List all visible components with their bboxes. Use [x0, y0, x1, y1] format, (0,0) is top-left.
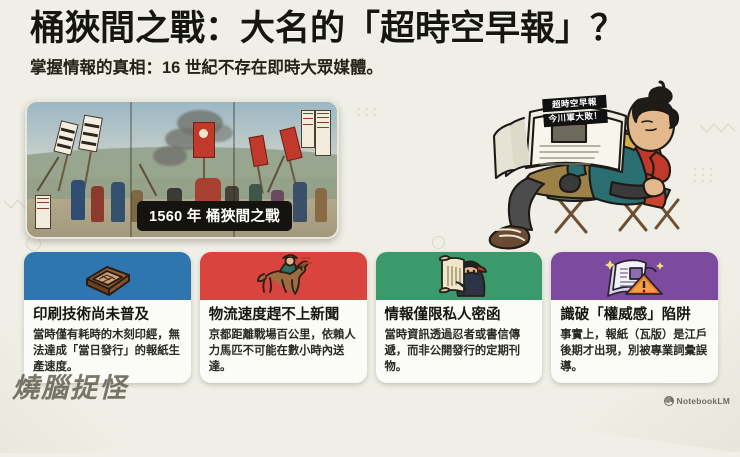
card-header-printing [24, 252, 191, 300]
reason-card-logistics[interactable]: 物流速度趕不上新聞 京都距離戰場百公里，依賴人力馬匹不可能在數小時內送達。 [200, 252, 367, 383]
notebooklm-attribution: NotebookLM [664, 396, 730, 406]
card-body-private-letters: 情報僅限私人密函 當時資訊透過忍者或書信傳遞，而非公開發行的定期刊物。 [376, 300, 543, 383]
decor-dot-grid-icon [358, 108, 378, 116]
hero-image-card: 1560 年 桶狹間之戰 [25, 100, 339, 239]
card-title: 情報僅限私人密函 [385, 307, 534, 324]
newspaper-warning-icon [602, 254, 668, 298]
reason-card-authority-trap[interactable]: 識破「權威感」陷阱 事實上，報紙（瓦版）是江戶後期才出現，別被專業詞彙誤導。 [551, 252, 718, 383]
reason-card-list: 印刷技術尚未普及 當時僅有耗時的木刻印經，無法達成「當日發行」的報紙生產速度。 [24, 252, 718, 383]
page-title: 桶狹間之戰：大名的「超時空早報」？ [30, 10, 720, 48]
decor-circle-icon [432, 236, 445, 249]
notebooklm-logo-icon [664, 396, 674, 406]
woodblock-print-icon [77, 255, 137, 297]
card-header-logistics [200, 252, 367, 300]
card-header-authority-trap [551, 252, 718, 300]
hero-image-caption: 1560 年 桶狹間之戰 [137, 201, 292, 231]
notebooklm-label: NotebookLM [677, 396, 730, 406]
card-text: 京都距離戰場百公里，依賴人力馬匹不可能在數小時內送達。 [209, 327, 358, 375]
card-text: 事實上，報紙（瓦版）是江戶後期才出現，別被專業詞彙誤導。 [560, 327, 709, 375]
infographic-canvas: 桶狹間之戰：大名的「超時空早報」？ 掌握情報的真相：16 世紀不存在即時大眾媒體… [0, 0, 740, 413]
card-text: 當時資訊透過忍者或書信傳遞，而非公開發行的定期刊物。 [385, 327, 534, 375]
card-title: 物流速度趕不上新聞 [209, 307, 358, 324]
card-title: 識破「權威感」陷阱 [560, 307, 709, 324]
card-header-private-letters [376, 252, 543, 300]
newspaper-headline: 超時空早報 今川軍大敗！ [542, 95, 608, 127]
card-body-authority-trap: 識破「權威感」陷阱 事實上，報紙（瓦版）是江戶後期才出現，別被專業詞彙誤導。 [551, 300, 718, 383]
page-subtitle: 掌握情報的真相：16 世紀不存在即時大眾媒體。 [30, 54, 720, 78]
header-block: 桶狹間之戰：大名的「超時空早報」？ 掌握情報的真相：16 世紀不存在即時大眾媒體… [30, 10, 720, 78]
ninja-scroll-icon [426, 254, 492, 298]
brand-watermark: 燒腦捉怪 [12, 366, 128, 405]
horse-rider-icon [252, 254, 314, 298]
reason-card-printing[interactable]: 印刷技術尚未普及 當時僅有耗時的木刻印經，無法達成「當日發行」的報紙生產速度。 [24, 252, 191, 383]
card-body-logistics: 物流速度趕不上新聞 京都距離戰場百公里，依賴人力馬匹不可能在數小時內送達。 [200, 300, 367, 383]
reason-card-private-letters[interactable]: 情報僅限私人密函 當時資訊透過忍者或書信傳遞，而非公開發行的定期刊物。 [376, 252, 543, 383]
card-title: 印刷技術尚未普及 [33, 307, 182, 324]
